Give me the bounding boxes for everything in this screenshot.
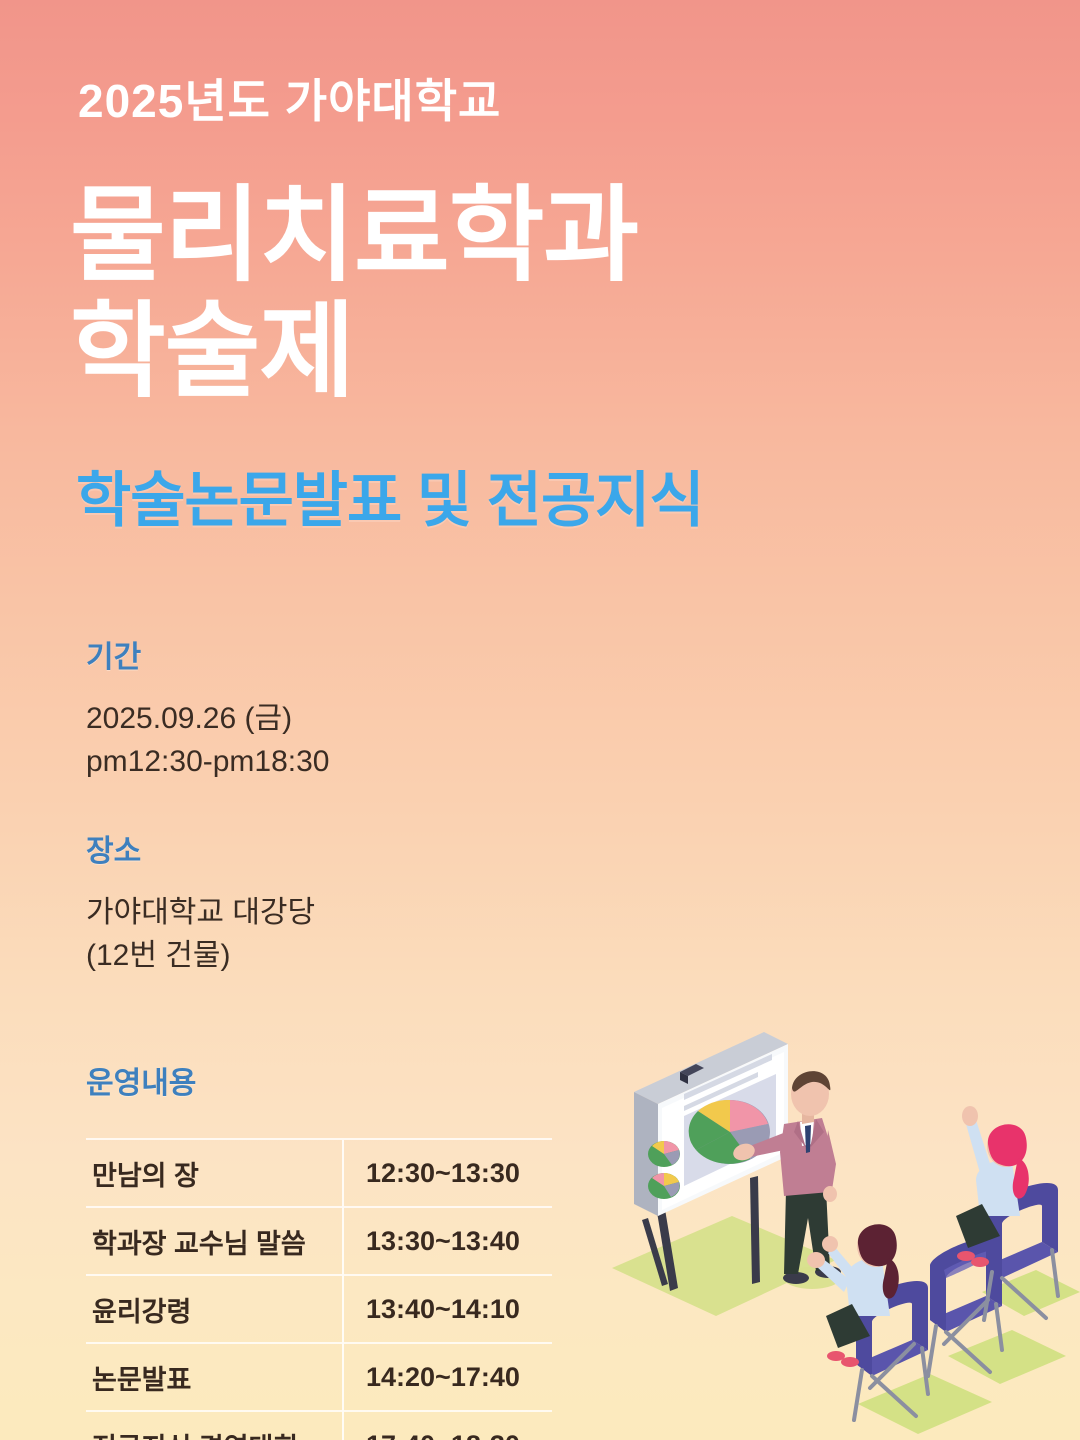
schedule-activity: 학과장 교수님 말씀 — [86, 1207, 343, 1275]
schedule-activity: 전공지식 경연대회 — [86, 1411, 343, 1440]
schedule-activity: 윤리강령 — [86, 1275, 343, 1343]
venue-block: 장소 가야대학교 대강당 (12번 건물) — [86, 826, 315, 977]
period-label: 기간 — [86, 632, 330, 676]
schedule-table: 만남의 장 12:30~13:30 학과장 교수님 말씀 13:30~13:40… — [86, 1138, 552, 1440]
schedule-time: 17:40~18:30 — [343, 1411, 552, 1440]
table-row: 전공지식 경연대회 17:40~18:30 — [86, 1411, 552, 1440]
title-line-2: 학술제 — [70, 294, 638, 410]
period-time: pm12:30-pm18:30 — [86, 741, 330, 784]
pie-chart-small-bottom — [648, 1173, 680, 1199]
schedule-time: 12:30~13:30 — [343, 1139, 552, 1207]
schedule-time: 14:20~17:40 — [343, 1343, 552, 1411]
schedule-time: 13:40~14:10 — [343, 1275, 552, 1343]
schedule-table-body: 만남의 장 12:30~13:30 학과장 교수님 말씀 13:30~13:40… — [86, 1139, 552, 1440]
poster-eyebrow: 2025년도 가야대학교 — [78, 76, 501, 127]
schedule-activity: 논문발표 — [86, 1343, 343, 1411]
poster-canvas: 2025년도 가야대학교 물리치료학과 학술제 학술논문발표 및 전공지식 기간… — [0, 0, 1080, 1440]
schedule-activity: 만남의 장 — [86, 1139, 343, 1207]
venue-label: 장소 — [86, 826, 315, 870]
schedule-time: 13:30~13:40 — [343, 1207, 552, 1275]
table-row: 학과장 교수님 말씀 13:30~13:40 — [86, 1207, 552, 1275]
table-row: 윤리강령 13:40~14:10 — [86, 1275, 552, 1343]
pie-chart-small-top — [648, 1141, 680, 1167]
table-row: 논문발표 14:20~17:40 — [86, 1343, 552, 1411]
title-line-1: 물리치료학과 — [70, 178, 638, 294]
period-date: 2025.09.26 (금) — [86, 698, 330, 741]
period-block: 기간 2025.09.26 (금) pm12:30-pm18:30 — [86, 632, 330, 783]
venue-name: 가야대학교 대강당 — [86, 892, 315, 935]
venue-building: (12번 건물) — [86, 935, 315, 978]
classroom-illustration — [600, 1020, 1080, 1440]
schedule-block: 운영내용 만남의 장 12:30~13:30 학과장 교수님 말씀 13:30~… — [86, 1058, 552, 1440]
schedule-label: 운영내용 — [86, 1058, 552, 1102]
page-title: 물리치료학과 학술제 — [70, 178, 638, 411]
poster-subtitle: 학술논문발표 및 전공지식 — [76, 452, 704, 539]
table-row: 만남의 장 12:30~13:30 — [86, 1139, 552, 1207]
